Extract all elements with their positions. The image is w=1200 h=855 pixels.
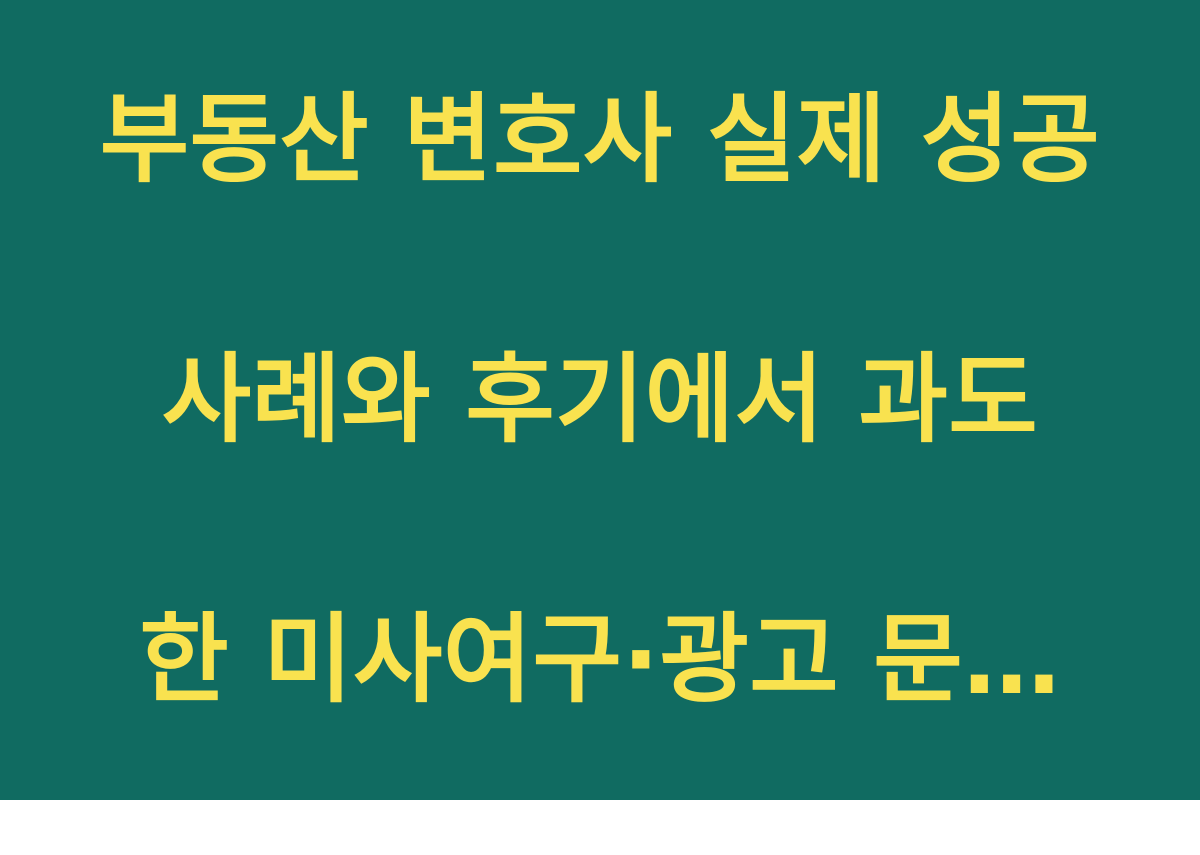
headline: 부동산 변호사 실제 성공 사례와 후기에서 과도 한 미사여구·광고 문… <box>0 0 1200 855</box>
headline-line-1: 부동산 변호사 실제 성공 <box>60 75 1140 205</box>
thumbnail-card: 부동산 변호사 실제 성공 사례와 후기에서 과도 한 미사여구·광고 문… <box>0 0 1200 800</box>
headline-line-2: 사례와 후기에서 과도 <box>60 335 1140 465</box>
headline-line-3: 한 미사여구·광고 문… <box>60 595 1140 725</box>
